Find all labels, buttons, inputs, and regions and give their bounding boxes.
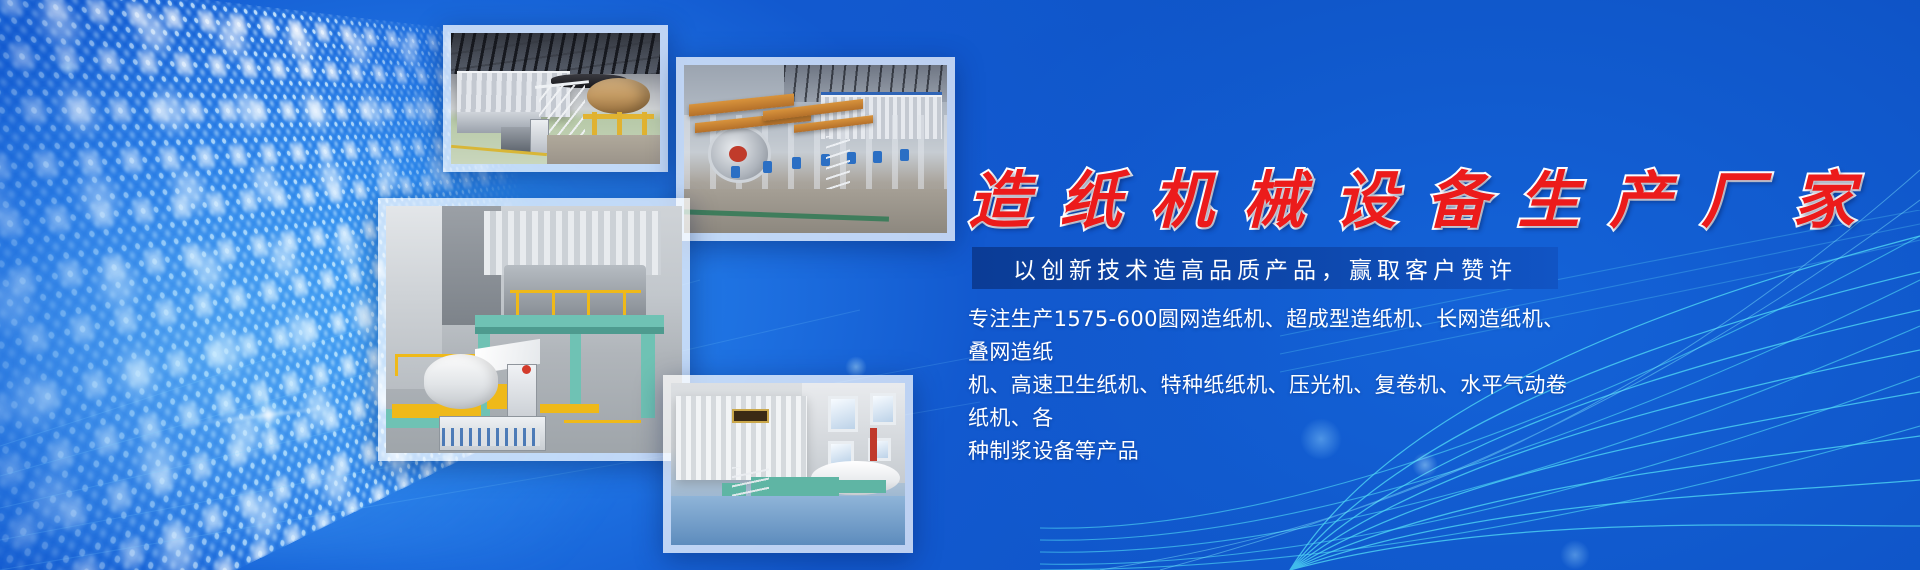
headline-char: 造 bbox=[968, 164, 1034, 237]
bokeh-dot bbox=[1560, 540, 1590, 570]
description-line: 专注生产1575-600圆网造纸机、超成型造纸机、长网造纸机、叠网造纸 bbox=[968, 303, 1568, 369]
photo-paper-machine-line bbox=[676, 57, 955, 241]
photo-tissue-paper-machine bbox=[378, 198, 690, 461]
description-line: 机、高速卫生纸机、特种纸纸机、压光机、复卷机、水平气动卷纸机、各 bbox=[968, 369, 1568, 435]
page-title: 造 纸 机 械 设 备 生 产 厂 家 bbox=[968, 150, 1859, 240]
headline-char: 备 bbox=[1426, 164, 1492, 237]
headline-char: 生 bbox=[1518, 164, 1584, 237]
headline-char: 械 bbox=[1243, 164, 1309, 237]
subtitle-text: 以创新技术造高品质产品，赢取客户赞许 bbox=[1013, 251, 1517, 285]
description-text: 专注生产1575-600圆网造纸机、超成型造纸机、长网造纸机、叠网造纸 机、高速… bbox=[968, 303, 1568, 468]
headline-char: 家 bbox=[1792, 164, 1858, 237]
subtitle-bar: 以创新技术造高品质产品，赢取客户赞许 bbox=[972, 247, 1558, 289]
photo-paper-machine-hall bbox=[443, 25, 668, 172]
headline-char: 产 bbox=[1609, 164, 1675, 237]
bokeh-dot bbox=[60, 60, 76, 76]
lens-flare-icon bbox=[183, 330, 353, 500]
headline-char: 厂 bbox=[1701, 164, 1767, 237]
headline-char: 机 bbox=[1151, 164, 1217, 237]
photo-paper-mill-workshop bbox=[663, 375, 913, 553]
headline-char: 纸 bbox=[1060, 164, 1126, 237]
headline-char: 设 bbox=[1334, 164, 1400, 237]
description-line: 种制浆设备等产品 bbox=[968, 435, 1568, 468]
promo-banner: 造 纸 机 械 设 备 生 产 厂 家 以创新技术造高品质产品，赢取客户赞许 专… bbox=[0, 0, 1920, 570]
lens-flare-core-icon bbox=[251, 398, 285, 432]
